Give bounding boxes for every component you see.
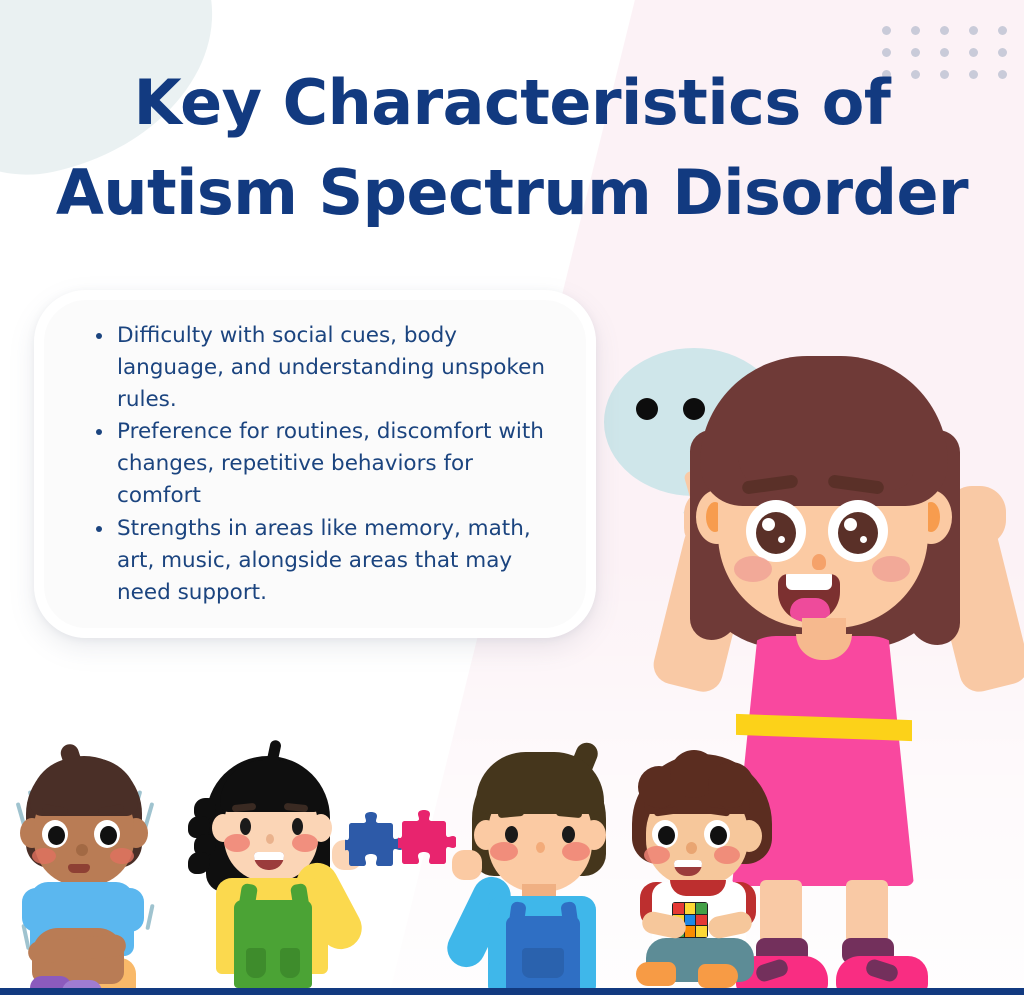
child2-left-eye [240, 818, 251, 835]
child2-braid [188, 798, 222, 884]
cube-cell [685, 926, 696, 937]
grid-dot [911, 48, 920, 57]
child4-left-pupil [658, 826, 675, 845]
child1-right-cheek [110, 848, 134, 864]
child4-collar [670, 880, 726, 896]
child4-right-pupil [710, 826, 727, 845]
child1-right-pupil [100, 826, 117, 845]
child3-right-cheek [562, 842, 590, 861]
girl-nose [812, 554, 826, 570]
grid-dot [969, 48, 978, 57]
grid-dot [998, 26, 1007, 35]
grid-dot [911, 26, 920, 35]
illustration-child-with-braid [180, 742, 360, 995]
child3-right-eye [562, 826, 575, 843]
grid-dot [940, 48, 949, 57]
child1-mouth [68, 864, 90, 873]
bottom-accent-bar [0, 988, 1024, 995]
child2-right-eye [292, 818, 303, 835]
child2-pocket-left [246, 948, 266, 978]
puzzle-piece-pink-icon [398, 810, 456, 875]
child4-left-foot [636, 962, 676, 986]
illustration-child-with-cube [622, 750, 782, 995]
child4-hair-curl [708, 762, 754, 808]
list-item: Difficulty with social cues, body langua… [96, 320, 562, 415]
grid-dot [882, 48, 891, 57]
grid-dot [940, 26, 949, 35]
child4-nose [686, 842, 697, 854]
title-line-2: Autism Spectrum Disorder [0, 148, 1024, 238]
girl-teeth [786, 574, 832, 590]
cube-cell [673, 903, 684, 914]
grid-dot [969, 26, 978, 35]
child4-right-cheek [714, 846, 740, 864]
cube-cell [685, 915, 696, 926]
title-line-1: Key Characteristics of [0, 58, 1024, 148]
cube-cell [696, 903, 707, 914]
puzzle-piece-blue-icon [345, 812, 403, 877]
girl-left-cheek [734, 556, 772, 582]
child3-left-cheek [490, 842, 518, 861]
page-title: Key Characteristics of Autism Spectrum D… [0, 58, 1024, 238]
child1-left-cheek [32, 848, 56, 864]
cube-cell [685, 903, 696, 914]
characteristics-list: Difficulty with social cues, body langua… [34, 290, 596, 608]
girl-left-pupil [756, 512, 796, 554]
infographic-poster: Key Characteristics of Autism Spectrum D… [0, 0, 1024, 995]
child3-hand [452, 850, 482, 880]
grid-dot [882, 26, 891, 35]
girl-right-cheek [872, 556, 910, 582]
girl-left-eye-glint-small [778, 536, 785, 543]
girl-right-pupil [838, 512, 878, 554]
illustration-child-hugging-knees [6, 752, 166, 995]
child2-right-cheek [292, 834, 318, 852]
ellipsis-dot [636, 398, 658, 420]
list-item: Strengths in areas like memory, math, ar… [96, 513, 562, 608]
child4-right-foot [698, 964, 738, 988]
child3-nose [536, 842, 545, 853]
characteristics-card: Difficulty with social cues, body langua… [34, 290, 596, 638]
child2-overalls [234, 900, 312, 988]
child3-pocket [522, 948, 564, 978]
child3-left-eye [505, 826, 518, 843]
child1-nose [76, 844, 88, 856]
child4-left-cheek [644, 846, 670, 864]
illustration-child-blue-overalls [450, 746, 640, 995]
cube-cell [696, 915, 707, 926]
child1-left-pupil [48, 826, 65, 845]
child2-left-cheek [224, 834, 250, 852]
girl-right-eye-glint [844, 518, 857, 531]
child2-pocket-right [280, 948, 300, 978]
grid-dot [998, 48, 1007, 57]
cube-cell [696, 926, 707, 937]
girl-left-eye-glint [762, 518, 775, 531]
girl-right-eye-glint-small [860, 536, 867, 543]
child2-nose [266, 834, 274, 844]
list-item: Preference for routines, discomfort with… [96, 416, 562, 511]
